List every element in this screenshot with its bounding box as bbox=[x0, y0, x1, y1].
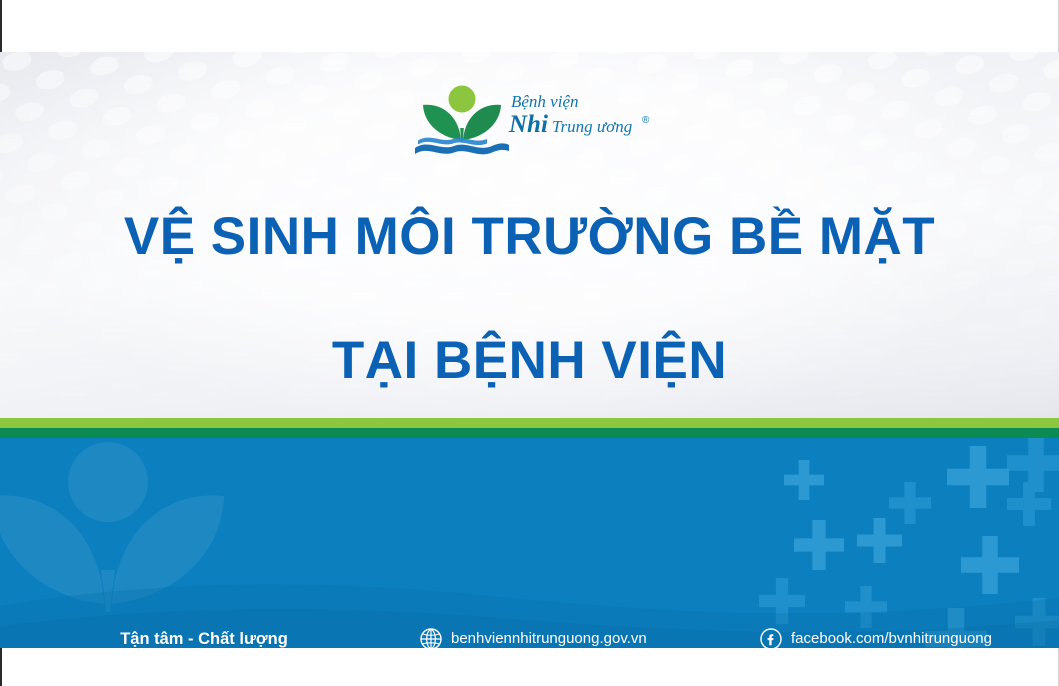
slide-footer: Tận tâm - Chất lượng Vì sức khoẻ Trẻ em … bbox=[0, 438, 1059, 648]
slide-title-line-1: VỆ SINH MÔI TRƯỜNG BỀ MẶT bbox=[0, 206, 1059, 268]
globe-icon bbox=[420, 628, 442, 648]
facebook-icon bbox=[760, 628, 782, 648]
hospital-slogan: Tận tâm - Chất lượng Vì sức khoẻ Trẻ em … bbox=[54, 626, 354, 648]
presentation-slide: Bệnh viện Nhi Trung ương ® VỆ SINH MÔI T… bbox=[0, 52, 1059, 648]
lotus-leaf-logo-mark-icon bbox=[412, 82, 512, 158]
logo-line1-text: Bệnh viện bbox=[511, 92, 579, 111]
slogan-line-1: Tận tâm - Chất lượng bbox=[54, 626, 354, 648]
contact-website[interactable]: benhviennhitrunguong.gov.vn bbox=[420, 628, 647, 648]
divider-band-dark-green bbox=[0, 428, 1059, 438]
contact-facebook-label: facebook.com/bvnhitrunguong bbox=[791, 628, 992, 648]
slide-title-line-2: TẠI BỆNH VIỆN bbox=[0, 330, 1059, 392]
logo-registered-mark: ® bbox=[642, 115, 650, 126]
contact-website-label: benhviennhitrunguong.gov.vn bbox=[451, 628, 647, 648]
hospital-logo-wordmark: Bệnh viện Nhi Trung ương ® bbox=[508, 88, 664, 148]
hospital-logo: Bệnh viện Nhi Trung ương ® bbox=[412, 82, 662, 160]
contact-facebook[interactable]: facebook.com/bvnhitrunguong bbox=[760, 628, 992, 648]
slide-viewer: Bệnh viện Nhi Trung ương ® VỆ SINH MÔI T… bbox=[0, 0, 1059, 686]
divider-band-light-green bbox=[0, 418, 1059, 428]
logo-line2-rest-text: Trung ương bbox=[552, 117, 632, 136]
logo-line2-bold-text: Nhi bbox=[508, 111, 548, 138]
